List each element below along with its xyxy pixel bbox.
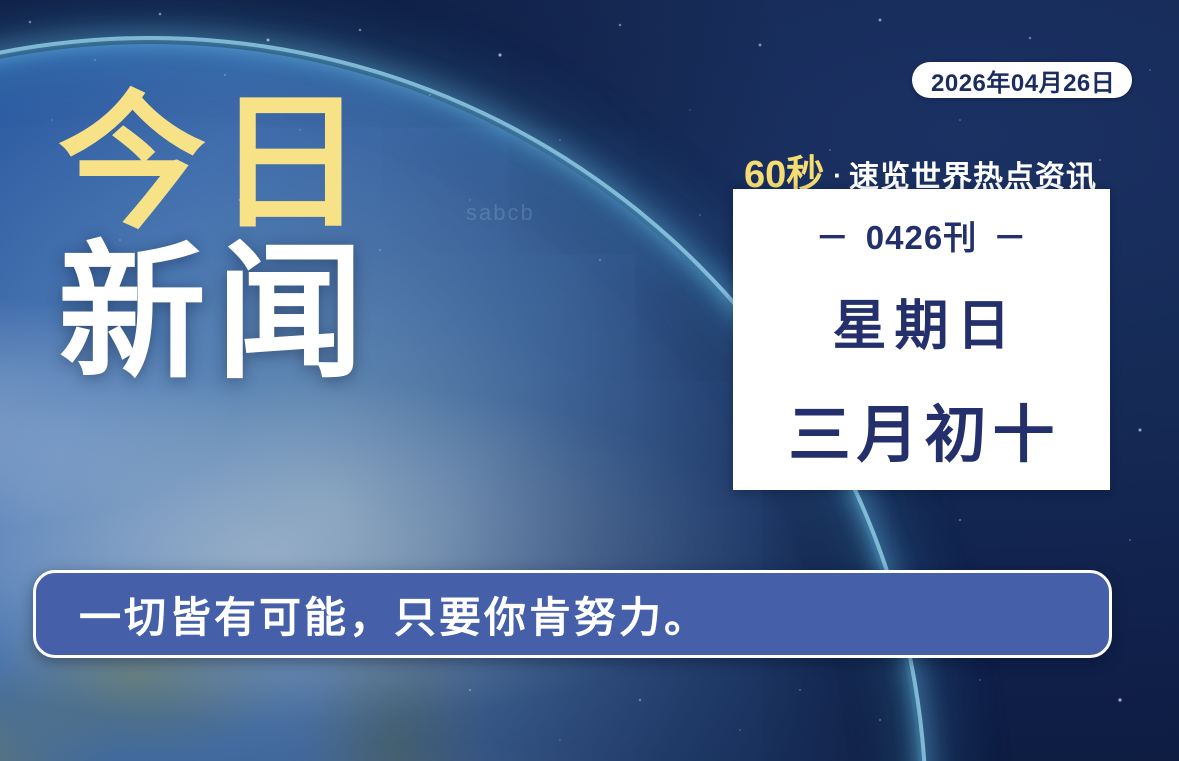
- news-poster: sabcb 2026年04月26日 今日 新闻 60秒 · 速览世界热点资讯 －…: [0, 0, 1179, 761]
- brand-title-line-2: 新闻: [58, 246, 374, 382]
- lunar-date-label: 三月初十: [782, 384, 1060, 474]
- issue-number: 0426刊: [866, 211, 977, 259]
- issue-dash-left-icon: －: [816, 211, 850, 259]
- date-badge: 2026年04月26日: [912, 62, 1132, 98]
- quote-banner: 一切皆有可能，只要你肯努力。: [33, 570, 1112, 658]
- tagline-separator-icon: ·: [833, 160, 842, 191]
- brand-title-line-1: 今日: [58, 96, 374, 232]
- issue-row: － 0426刊 －: [800, 211, 1043, 259]
- info-card: － 0426刊 － 星期日 三月初十: [733, 189, 1110, 490]
- brand-title: 今日 新闻: [58, 96, 374, 382]
- weekday-label: 星期日: [825, 281, 1019, 360]
- content-layer: 2026年04月26日 今日 新闻 60秒 · 速览世界热点资讯 － 0426刊…: [0, 0, 1179, 761]
- quote-text: 一切皆有可能，只要你肯努力。: [79, 584, 709, 645]
- issue-dash-right-icon: －: [993, 211, 1027, 259]
